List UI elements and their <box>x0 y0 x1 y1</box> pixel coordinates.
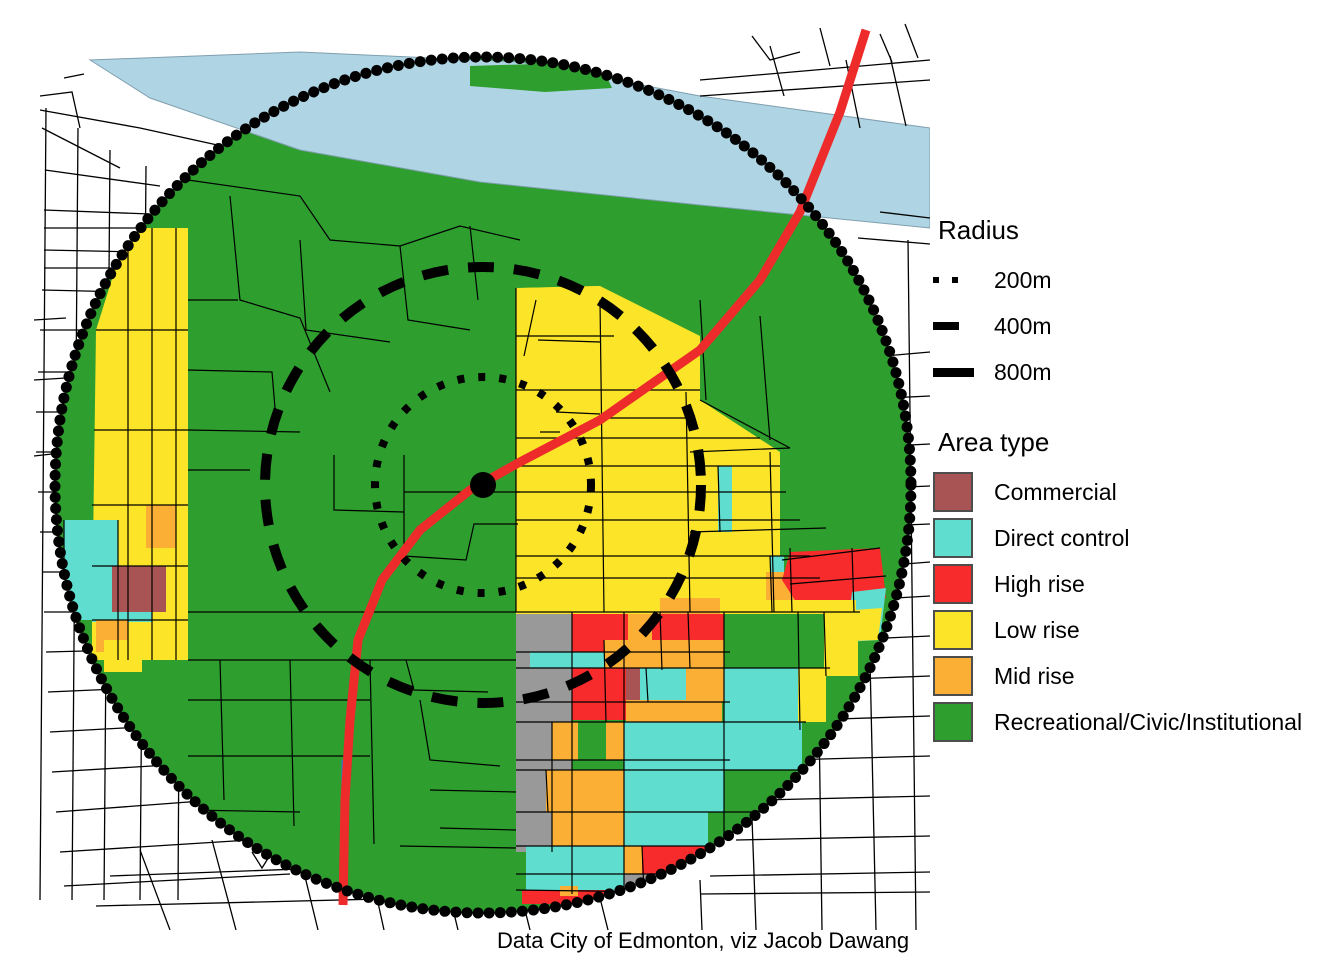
legend-item-commercial[interactable]: Commercial <box>930 469 1344 515</box>
zone-midrise-r5 <box>546 770 624 812</box>
legend-key-high-rise <box>930 561 976 607</box>
zone-directcontrol-r5 <box>624 770 724 812</box>
800m-solid-line-icon <box>930 349 976 395</box>
zone-other-grey-r5 <box>516 770 546 812</box>
legend-label-800m: 800m <box>994 359 1052 386</box>
legend-item-high-rise[interactable]: High rise <box>930 561 1344 607</box>
zone-midrise-r7 <box>624 846 642 874</box>
legend-item-mid-rise[interactable]: Mid rise <box>930 653 1344 699</box>
legend-areatype-title: Area type <box>938 427 1344 457</box>
legend-item-low-rise[interactable]: Low rise <box>930 607 1344 653</box>
zone-directcontrol-r4 <box>624 722 724 770</box>
400m-dashed-line-icon <box>930 303 976 349</box>
zone-lowrise-r3 <box>798 668 826 722</box>
zone-recreational-se-2 <box>578 722 606 760</box>
legend-key-400m <box>930 303 976 349</box>
legend-spacer <box>930 417 1344 427</box>
zone-midrise-r4a <box>552 722 578 760</box>
commercial-color-swatch <box>933 472 973 512</box>
legend-label-mid-rise: Mid rise <box>994 663 1075 690</box>
legend-label-low-rise: Low rise <box>994 617 1080 644</box>
legend-key-800m <box>930 349 976 395</box>
zoning-map-page: Zoning around University LRT station <box>0 0 1344 960</box>
legend-item-recreational[interactable]: Recreational/Civic/Institutional <box>930 699 1344 745</box>
legend-panel: Radius 200m 400m <box>930 215 1344 767</box>
legend-key-commercial <box>930 469 976 515</box>
legend-radius-title: Radius <box>938 215 1344 245</box>
map-caption: Data City of Edmonton, viz Jacob Dawang <box>497 928 909 954</box>
legend-label-200m: 200m <box>994 267 1052 294</box>
zone-lowrise-west-3 <box>104 640 142 672</box>
zone-other-grey-r4 <box>516 722 552 770</box>
zone-commercial-west <box>112 566 166 612</box>
legend-item-800m[interactable]: 800m <box>930 349 1344 395</box>
legend-item-direct-control[interactable]: Direct control <box>930 515 1344 561</box>
legend-item-200m[interactable]: 200m <box>930 257 1344 303</box>
legend-key-mid-rise <box>930 653 976 699</box>
legend-label-high-rise: High rise <box>994 571 1085 598</box>
low-rise-color-swatch <box>933 610 973 650</box>
recreational-color-swatch <box>933 702 973 742</box>
high-rise-color-swatch <box>933 564 973 604</box>
map-canvas[interactable] <box>0 0 930 930</box>
mid-rise-color-swatch <box>933 656 973 696</box>
legend-key-recreational <box>930 699 976 745</box>
legend-radius-group: Radius 200m 400m <box>930 215 1344 395</box>
legend-label-400m: 400m <box>994 313 1052 340</box>
200m-dotted-line-icon <box>930 257 976 303</box>
legend-key-low-rise <box>930 607 976 653</box>
zone-directcontrol-r3c <box>724 668 798 722</box>
legend-label-direct-control: Direct control <box>994 525 1129 552</box>
zone-directcontrol-r4b <box>724 722 802 770</box>
zone-midrise-r4b <box>606 722 624 760</box>
legend-item-400m[interactable]: 400m <box>930 303 1344 349</box>
legend-key-direct-control <box>930 515 976 561</box>
direct-control-color-swatch <box>933 518 973 558</box>
legend-areatype-group: Area type Commercial Direct control High… <box>930 427 1344 745</box>
zone-midrise-west <box>146 505 176 548</box>
station-marker-dot[interactable] <box>470 472 496 498</box>
map-svg[interactable] <box>0 0 930 930</box>
legend-label-commercial: Commercial <box>994 479 1117 506</box>
zone-recreational-se-1 <box>724 612 824 676</box>
legend-key-200m <box>930 257 976 303</box>
legend-label-recreational: Recreational/Civic/Institutional <box>994 709 1302 736</box>
zone-midrise-r3 <box>686 668 726 702</box>
zone-lowrise-se-1 <box>824 612 858 676</box>
